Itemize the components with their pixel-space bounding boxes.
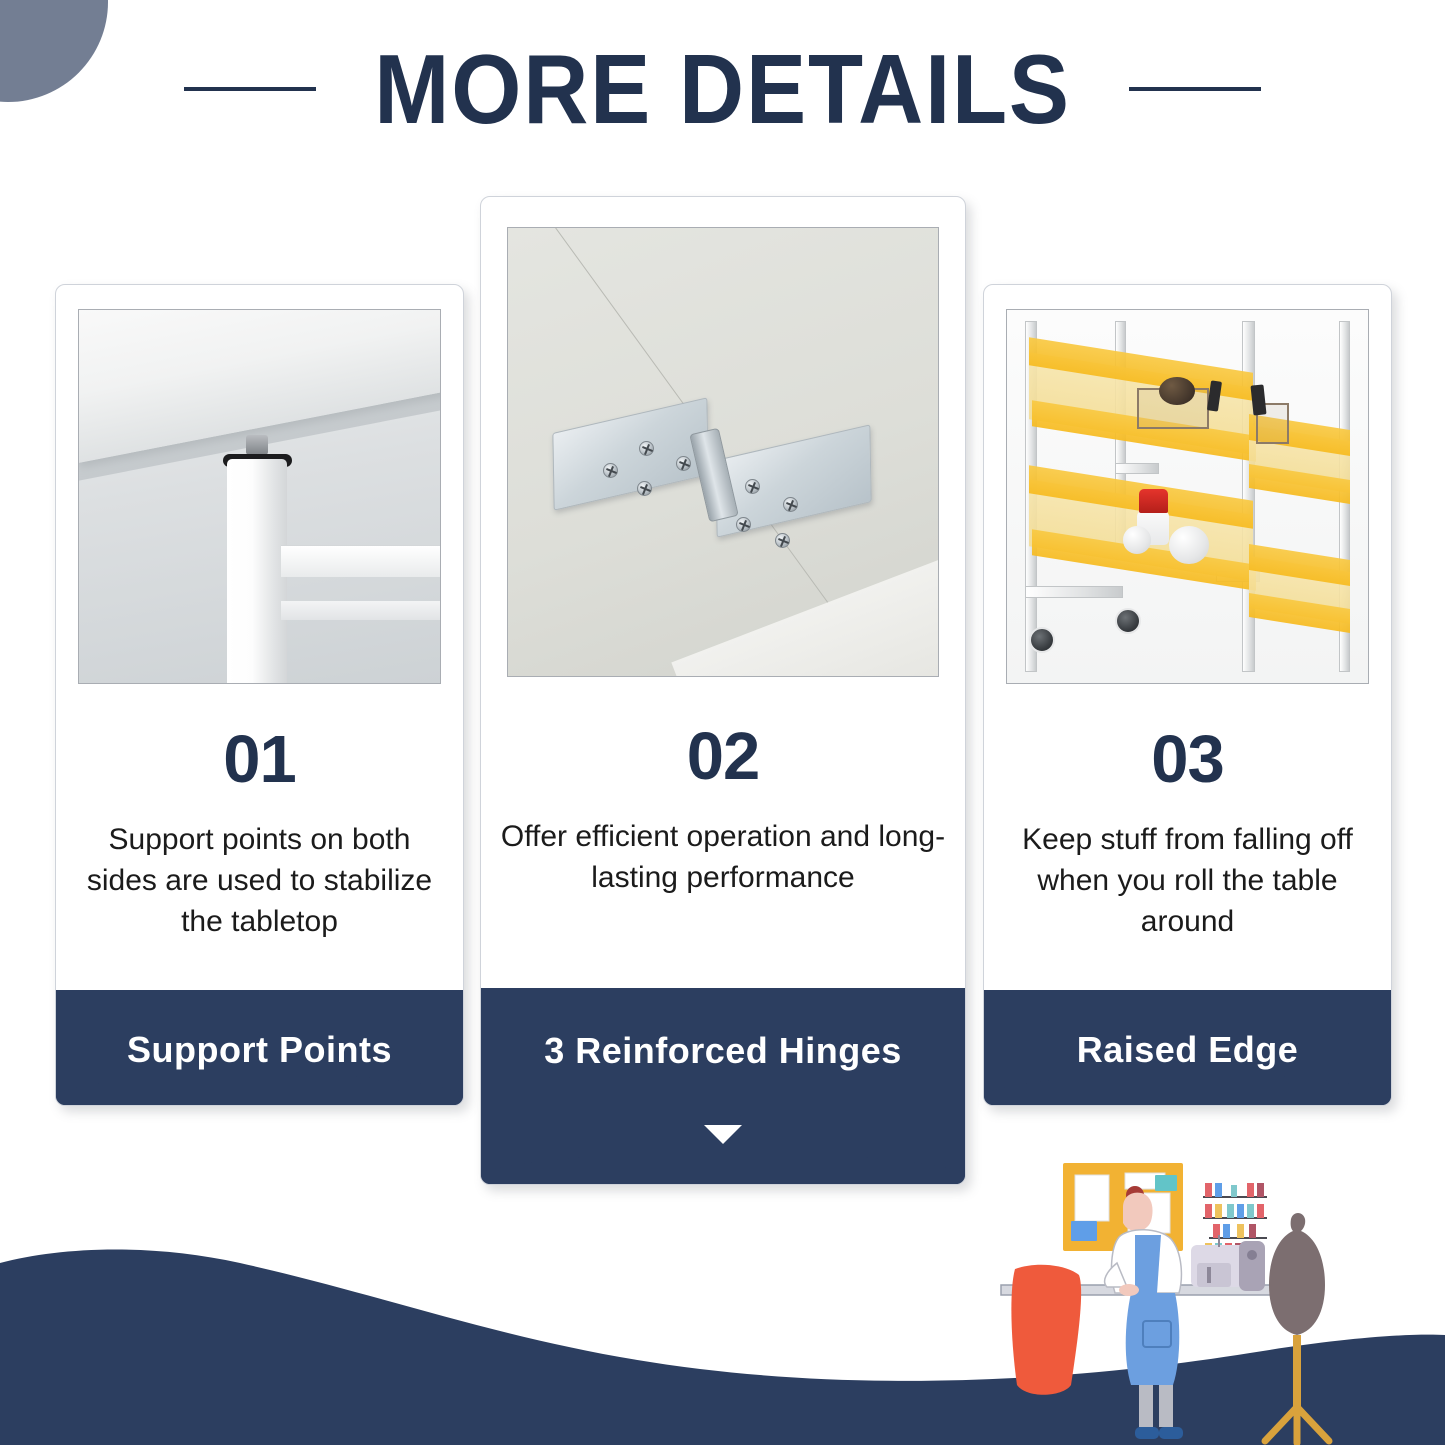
card-number: 02	[497, 723, 949, 790]
card-footer-label: Support Points	[56, 990, 463, 1068]
card-footer-02[interactable]: 3 Reinforced Hinges	[481, 988, 965, 1184]
title-dash-left	[184, 87, 316, 91]
rolling-cart-photo	[1006, 309, 1369, 684]
page-title: MORE DETAILS	[374, 40, 1071, 138]
feature-card-02[interactable]: 02 Offer efficient operation and long-la…	[480, 196, 966, 1185]
card-description: Offer efficient operation and long-lasti…	[497, 816, 949, 898]
sewing-workshop-illustration	[975, 1145, 1445, 1445]
card-footer-label: Raised Edge	[984, 990, 1391, 1068]
page-header: MORE DETAILS	[0, 26, 1445, 151]
card-body-02: 02 Offer efficient operation and long-la…	[481, 677, 965, 988]
title-dash-right	[1129, 87, 1261, 91]
card-number: 01	[72, 726, 447, 793]
card-description: Keep stuff from falling off when you rol…	[1000, 819, 1375, 942]
card-body-01: 01 Support points on both sides are used…	[56, 684, 463, 990]
card-footer-03[interactable]: Raised Edge	[984, 990, 1391, 1105]
footer-curve-shape	[55, 1073, 464, 1106]
card-description: Support points on both sides are used to…	[72, 819, 447, 942]
card-footer-label: 3 Reinforced Hinges	[481, 988, 965, 1069]
feature-card-01[interactable]: 01 Support points on both sides are used…	[55, 284, 464, 1106]
card-number: 03	[1000, 726, 1375, 793]
chevron-down-icon[interactable]	[704, 1125, 742, 1144]
feature-card-03[interactable]: 03 Keep stuff from falling off when you …	[983, 284, 1392, 1106]
card-footer-01[interactable]: Support Points	[56, 990, 463, 1105]
red-fabric	[1011, 1265, 1081, 1395]
footer-curve-shape	[983, 1073, 1392, 1106]
footer-curve-shape	[480, 1152, 966, 1185]
hinge-photo	[507, 227, 939, 677]
support-point-photo	[78, 309, 441, 684]
dress-form-mannequin-icon	[1265, 1213, 1329, 1443]
card-body-03: 03 Keep stuff from falling off when you …	[984, 684, 1391, 990]
feature-cards-row: 01 Support points on both sides are used…	[0, 0, 1445, 1200]
